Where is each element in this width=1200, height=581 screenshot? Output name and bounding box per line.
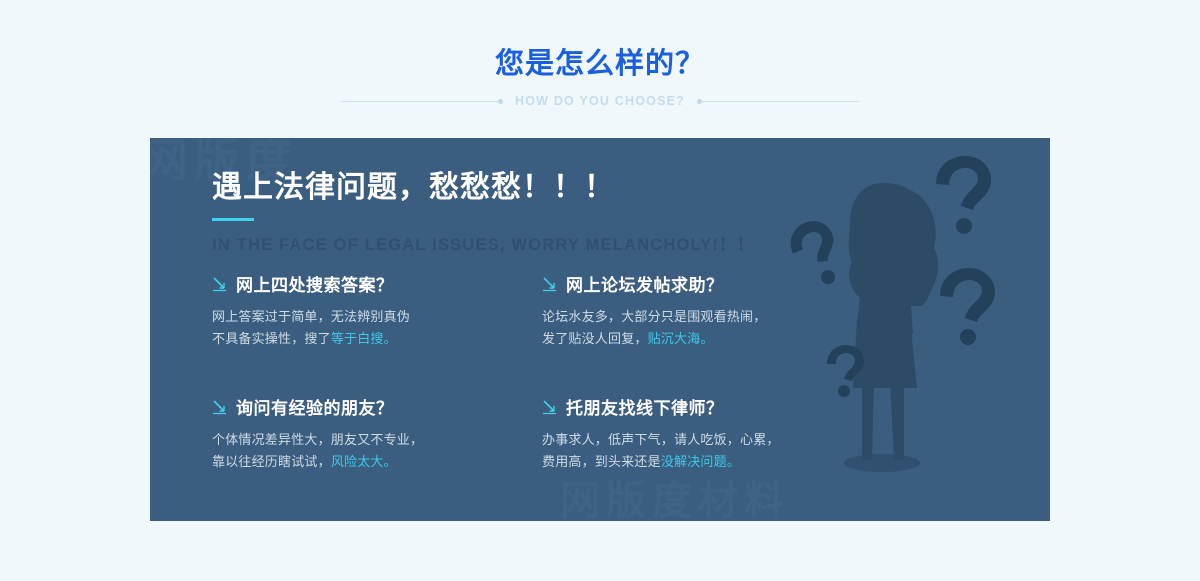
diagonal-arrow-icon bbox=[212, 399, 228, 415]
diagonal-arrow-icon bbox=[212, 276, 228, 292]
list-item: 网上四处搜索答案？ 网上答案过于简单，无法辨别真伪 不具备实操性，搜了等于白搜。 bbox=[212, 271, 542, 350]
list-item: 网上论坛发帖求助？ 论坛水友多，大部分只是围观看热闹， 发了贴没人回复，贴沉大海… bbox=[542, 271, 872, 350]
hair-back bbox=[910, 190, 938, 298]
item-title: 网上四处搜索答案？ bbox=[236, 271, 394, 296]
item-body-plain: 靠以往经历瞎试试， bbox=[212, 454, 331, 469]
item-body: 办事求人，低声下气，请人吃饭，心累， 费用高，到头来还是没解决问题。 bbox=[542, 429, 872, 473]
item-body: 个体情况差异性大，朋友又不专业， 靠以往经历瞎试试，风险太大。 bbox=[212, 429, 542, 473]
content-panel: 网版度 网版度材料 bbox=[150, 138, 1050, 521]
item-body-line-1: 论坛水友多，大部分只是围观看热闹， bbox=[542, 306, 872, 328]
divider-dot-left bbox=[498, 99, 503, 104]
item-body-highlight: 没解决问题。 bbox=[661, 454, 740, 469]
question-mark-3 bbox=[940, 268, 995, 345]
item-body-line-1: 个体情况差异性大，朋友又不专业， bbox=[212, 429, 542, 451]
panel-subheading: IN THE FACE OF LEGAL ISSUES, WORRY MELAN… bbox=[212, 231, 755, 255]
item-body-highlight: 等于白搜。 bbox=[331, 331, 397, 346]
diagonal-arrow-icon bbox=[542, 399, 558, 415]
item-body-line-2: 费用高，到头来还是没解决问题。 bbox=[542, 451, 872, 473]
divider-dot-right bbox=[697, 99, 702, 104]
leg-right bbox=[890, 378, 904, 460]
item-body-line-2: 不具备实操性，搜了等于白搜。 bbox=[212, 328, 542, 350]
item-body-highlight: 风险太大。 bbox=[331, 454, 397, 469]
page-title: 您是怎么样的？ bbox=[0, 44, 1200, 84]
item-body-highlight: 贴沉大海。 bbox=[648, 331, 714, 346]
question-mark-1 bbox=[936, 156, 991, 234]
item-body-line-2: 靠以往经历瞎试试，风险太大。 bbox=[212, 451, 542, 473]
panel-heading-block: 遇上法律问题，愁愁愁！！！ IN THE FACE OF LEGAL ISSUE… bbox=[212, 168, 755, 255]
divider-left bbox=[341, 101, 501, 102]
list-item: 询问有经验的朋友？ 个体情况差异性大，朋友又不专业， 靠以往经历瞎试试，风险太大… bbox=[212, 394, 542, 473]
item-body: 论坛水友多，大部分只是围观看热闹， 发了贴没人回复，贴沉大海。 bbox=[542, 306, 872, 350]
page-subtitle: HOW DO YOU CHOOSE? bbox=[515, 94, 685, 108]
item-title-row: 托朋友找线下律师？ bbox=[542, 394, 872, 419]
panel-heading: 遇上法律问题，愁愁愁！！！ bbox=[212, 168, 755, 208]
heading-underline bbox=[212, 218, 254, 221]
item-body: 网上答案过于简单，无法辨别真伪 不具备实操性，搜了等于白搜。 bbox=[212, 306, 542, 350]
item-body-plain: 发了贴没人回复， bbox=[542, 331, 648, 346]
diagonal-arrow-icon bbox=[542, 276, 558, 292]
item-body-line-1: 办事求人，低声下气，请人吃饭，心累， bbox=[542, 429, 872, 451]
item-title: 询问有经验的朋友？ bbox=[236, 394, 394, 419]
item-title: 网上论坛发帖求助？ bbox=[566, 271, 724, 296]
divider-right bbox=[699, 101, 859, 102]
list-item: 托朋友找线下律师？ 办事求人，低声下气，请人吃饭，心累， 费用高，到头来还是没解… bbox=[542, 394, 872, 473]
section-subtitle-row: HOW DO YOU CHOOSE? bbox=[0, 94, 1200, 108]
item-body-plain: 费用高，到头来还是 bbox=[542, 454, 661, 469]
items-grid: 网上四处搜索答案？ 网上答案过于简单，无法辨别真伪 不具备实操性，搜了等于白搜。… bbox=[212, 271, 872, 473]
item-body-line-1: 网上答案过于简单，无法辨别真伪 bbox=[212, 306, 542, 328]
item-body-line-2: 发了贴没人回复，贴沉大海。 bbox=[542, 328, 872, 350]
section-header: 您是怎么样的？ HOW DO YOU CHOOSE? bbox=[0, 44, 1200, 108]
item-body-plain: 不具备实操性，搜了 bbox=[212, 331, 331, 346]
watermark-bottom: 网版度材料 bbox=[560, 468, 790, 521]
item-title-row: 网上四处搜索答案？ bbox=[212, 271, 542, 296]
item-title: 托朋友找线下律师？ bbox=[566, 394, 724, 419]
item-title-row: 网上论坛发帖求助？ bbox=[542, 271, 872, 296]
item-title-row: 询问有经验的朋友？ bbox=[212, 394, 542, 419]
